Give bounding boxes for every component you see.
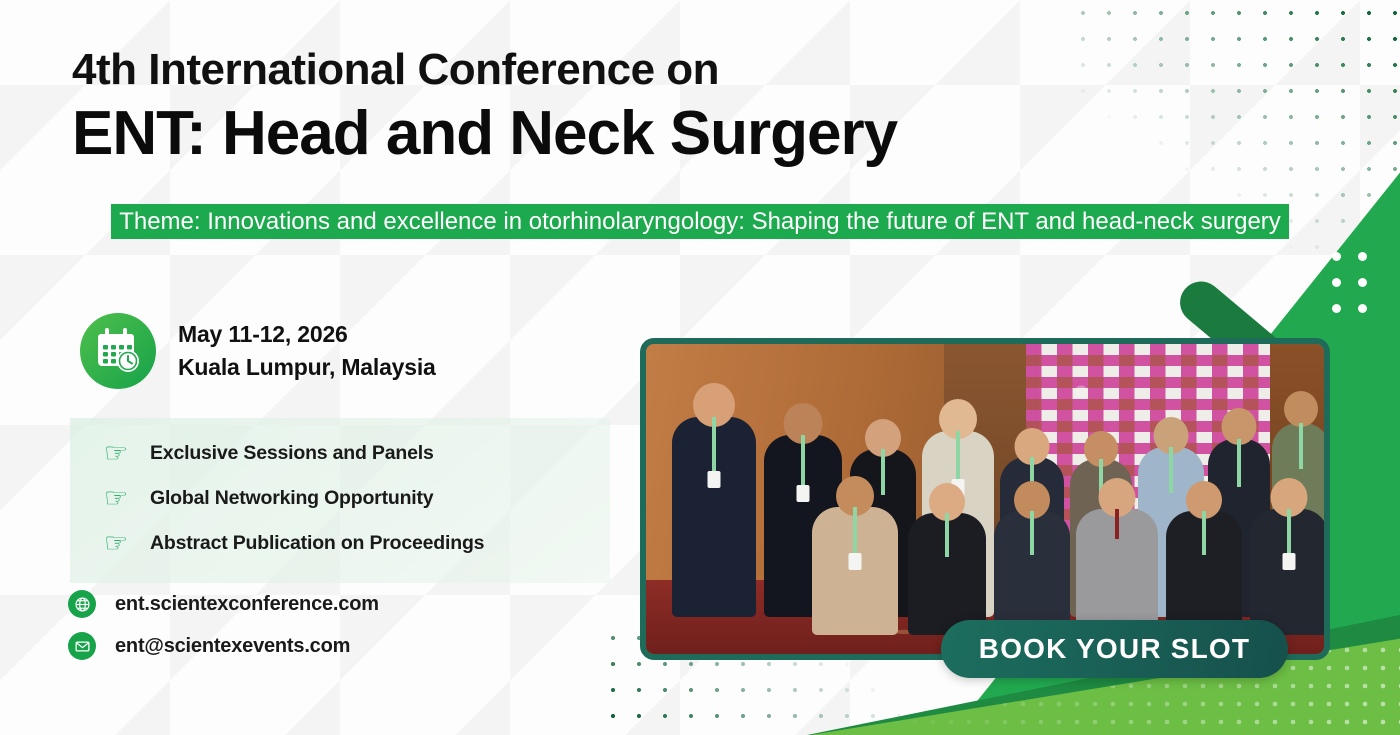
white-dot-grid [1332, 252, 1384, 330]
website-row[interactable]: ent.scientexconference.com [68, 590, 379, 618]
theme-text: Theme: Innovations and excellence in oto… [111, 204, 1289, 239]
pointing-hand-icon: ☞ [104, 530, 134, 557]
event-dates: May 11-12, 2026 [178, 318, 436, 351]
conference-group-photo [640, 338, 1330, 660]
cta-label: BOOK YOUR SLOT [979, 633, 1250, 665]
conference-banner: 4th International Conference on ENT: Hea… [0, 0, 1400, 735]
feature-label: Global Networking Opportunity [150, 487, 433, 510]
pointing-hand-icon: ☞ [104, 485, 134, 512]
pointing-hand-icon: ☞ [104, 440, 134, 467]
conference-main-title: ENT: Head and Neck Surgery [72, 100, 897, 168]
email-address[interactable]: ent@scientexevents.com [115, 635, 350, 658]
list-item: ☞ Global Networking Opportunity [104, 485, 590, 512]
website-url[interactable]: ent.scientexconference.com [115, 593, 379, 616]
event-location: Kuala Lumpur, Malaysia [178, 351, 436, 384]
event-details: May 11-12, 2026 Kuala Lumpur, Malaysia [80, 313, 436, 389]
contact-info: ent.scientexconference.com ent@scientexe… [68, 590, 379, 674]
conference-edition-title: 4th International Conference on [72, 46, 897, 94]
envelope-icon [68, 632, 96, 660]
feature-label: Abstract Publication on Proceedings [150, 532, 484, 555]
list-item: ☞ Exclusive Sessions and Panels [104, 440, 590, 467]
theme-banner: Theme: Innovations and excellence in oto… [50, 203, 1350, 242]
list-item: ☞ Abstract Publication on Proceedings [104, 530, 590, 557]
calendar-clock-icon [80, 313, 156, 389]
email-row[interactable]: ent@scientexevents.com [68, 632, 379, 660]
feature-label: Exclusive Sessions and Panels [150, 442, 434, 465]
features-list: ☞ Exclusive Sessions and Panels ☞ Global… [70, 418, 610, 583]
book-your-slot-button[interactable]: BOOK YOUR SLOT [941, 620, 1288, 678]
globe-icon [68, 590, 96, 618]
page-title: 4th International Conference on ENT: Hea… [72, 46, 897, 168]
